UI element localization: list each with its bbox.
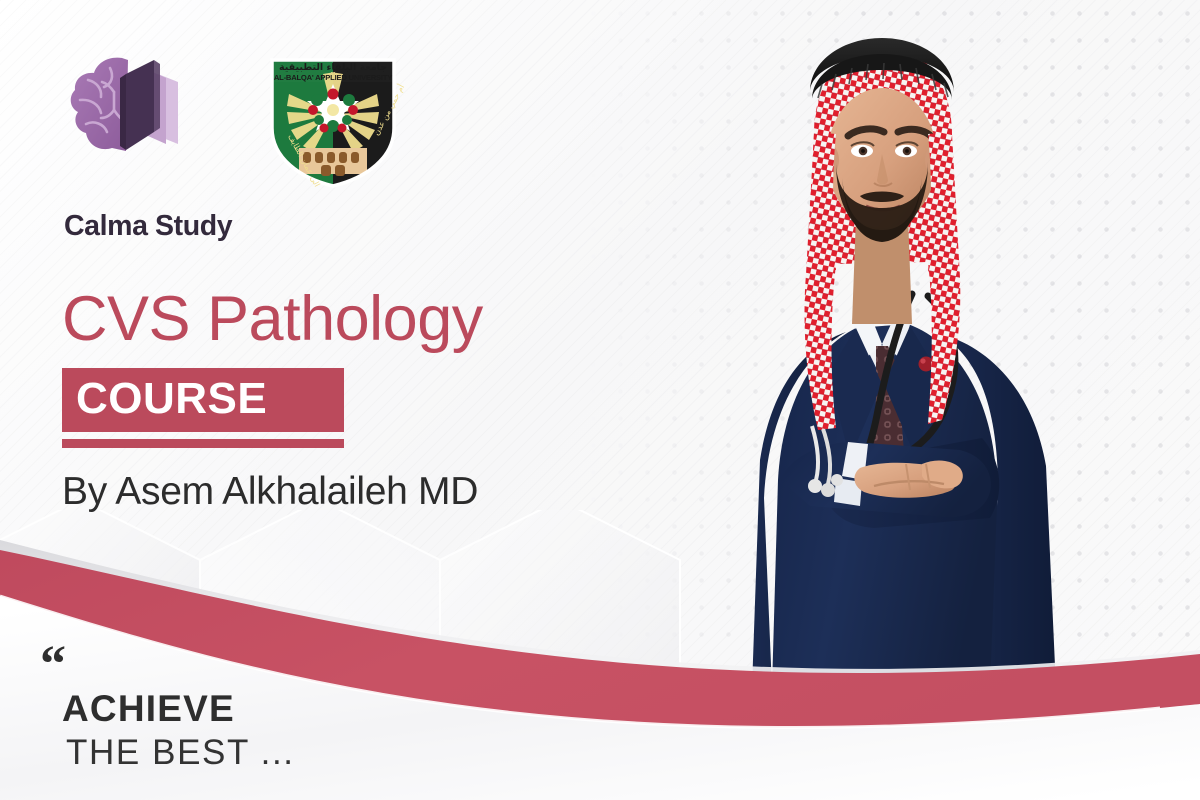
slogan-line-1: ACHIEVE bbox=[62, 690, 460, 727]
course-highlight-box: COURSE bbox=[62, 368, 344, 432]
headline-block: CVS Pathology COURSE By Asem Alkhalaileh… bbox=[62, 288, 682, 514]
course-underline-bar bbox=[62, 439, 344, 448]
calma-study-wordmark: Calma Study bbox=[64, 210, 232, 243]
course-title: CVS Pathology bbox=[62, 288, 682, 351]
university-english-name: AL-BALQA' APPLIED UNIVERSITY bbox=[274, 73, 392, 82]
brain-book-logo-icon bbox=[70, 52, 188, 160]
slogan-block: “ ACHIEVE THE BEST ... bbox=[40, 652, 460, 770]
university-arabic-name: جامعة البلقاء التطبيقية bbox=[279, 62, 387, 73]
slogan-line-2: THE BEST ... bbox=[66, 735, 460, 770]
al-balqa-applied-university-shield-icon[interactable]: جامعة البلقاء التطبيقية AL-BALQA' APPLIE… bbox=[262, 52, 404, 190]
course-highlight-label: COURSE bbox=[76, 377, 330, 421]
instructor-byline: By Asem Alkhalaileh MD bbox=[62, 470, 682, 514]
poster-canvas: Calma Study bbox=[0, 0, 1200, 800]
course-highlight-group: COURSE bbox=[62, 368, 344, 448]
quote-mark-icon: “ bbox=[40, 652, 460, 678]
calma-study-logo[interactable]: Calma Study bbox=[62, 52, 242, 197]
